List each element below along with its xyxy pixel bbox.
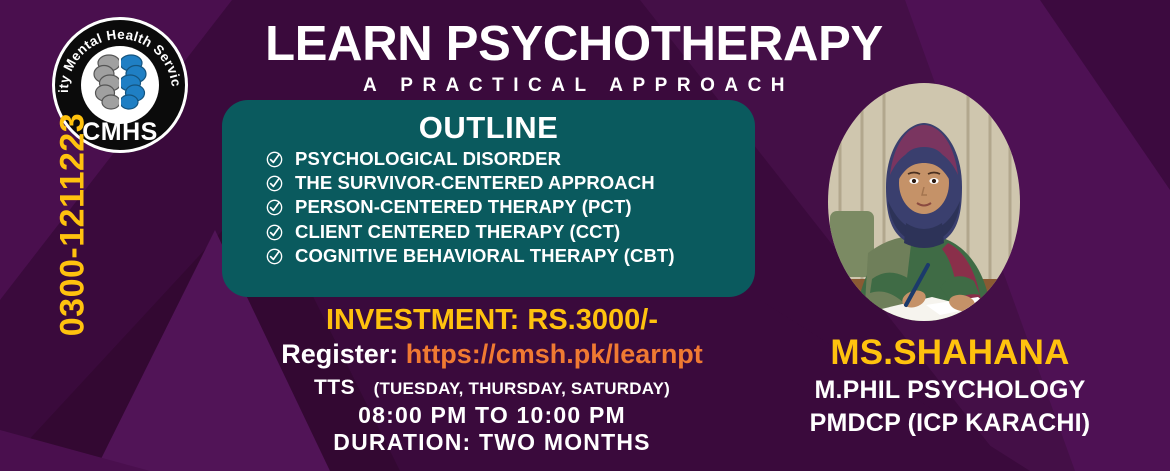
outline-list: PSYCHOLOGICAL DISORDER THE SURVIVOR-CENT… xyxy=(222,149,755,267)
check-circle-icon xyxy=(266,151,283,168)
course-duration: DURATION: TWO MONTHS xyxy=(232,429,752,456)
outline-item-label: PERSON-CENTERED THERAPY (PCT) xyxy=(295,197,632,218)
outline-panel: OUTLINE PSYCHOLOGICAL DISORDER xyxy=(222,100,755,297)
check-circle-icon xyxy=(266,248,283,265)
presenter-name: MS.SHAHANA xyxy=(760,333,1140,372)
page-subtitle: A PRACTICAL APPROACH xyxy=(196,75,952,97)
headline-block: LEARN PSYCHOTHERAPY A PRACTICAL APPROACH xyxy=(196,20,952,97)
list-item: COGNITIVE BEHAVIORAL THERAPY (CBT) xyxy=(266,246,755,267)
list-item: THE SURVIVOR-CENTERED APPROACH xyxy=(266,173,755,194)
presenter-photo xyxy=(828,83,1020,321)
list-item: PERSON-CENTERED THERAPY (PCT) xyxy=(266,197,755,218)
list-item: PSYCHOLOGICAL DISORDER xyxy=(266,149,755,170)
outline-item-label: CLIENT CENTERED THERAPY (CCT) xyxy=(295,222,620,243)
presenter-credential-1: M.PHIL PSYCHOLOGY xyxy=(760,375,1140,405)
presenter-credential-2: PMDCP (ICP KARACHI) xyxy=(760,408,1140,438)
brain-icon xyxy=(94,55,146,109)
presenter-info: MS.SHAHANA M.PHIL PSYCHOLOGY PMDCP (ICP … xyxy=(760,333,1140,438)
check-circle-icon xyxy=(266,175,283,192)
investment-text: INVESTMENT: RS.3000/- xyxy=(232,303,752,337)
course-promo-banner: City Mental Health Services xyxy=(0,0,1170,471)
page-title: LEARN PSYCHOTHERAPY xyxy=(196,20,952,70)
outline-heading: OUTLINE xyxy=(222,100,755,143)
register-line: Register: https://cmsh.pk/learnpt xyxy=(232,338,752,370)
phone-number: 0300-1211223 xyxy=(54,110,93,340)
class-days-code: TTS xyxy=(314,376,355,399)
check-circle-icon xyxy=(266,224,283,241)
class-days-full: (TUESDAY, THURSDAY, SATURDAY) xyxy=(360,379,670,398)
class-days: TTS (TUESDAY, THURSDAY, SATURDAY) xyxy=(232,375,752,400)
outline-item-label: THE SURVIVOR-CENTERED APPROACH xyxy=(295,173,655,194)
register-url[interactable]: https://cmsh.pk/learnpt xyxy=(406,339,703,369)
outline-item-label: COGNITIVE BEHAVIORAL THERAPY (CBT) xyxy=(295,246,675,267)
outline-item-label: PSYCHOLOGICAL DISORDER xyxy=(295,149,561,170)
check-circle-icon xyxy=(266,199,283,216)
class-timing: 08:00 PM TO 10:00 PM xyxy=(232,402,752,429)
register-label: Register: xyxy=(281,339,398,369)
list-item: CLIENT CENTERED THERAPY (CCT) xyxy=(266,222,755,243)
course-details: INVESTMENT: RS.3000/- Register: https://… xyxy=(232,303,752,456)
